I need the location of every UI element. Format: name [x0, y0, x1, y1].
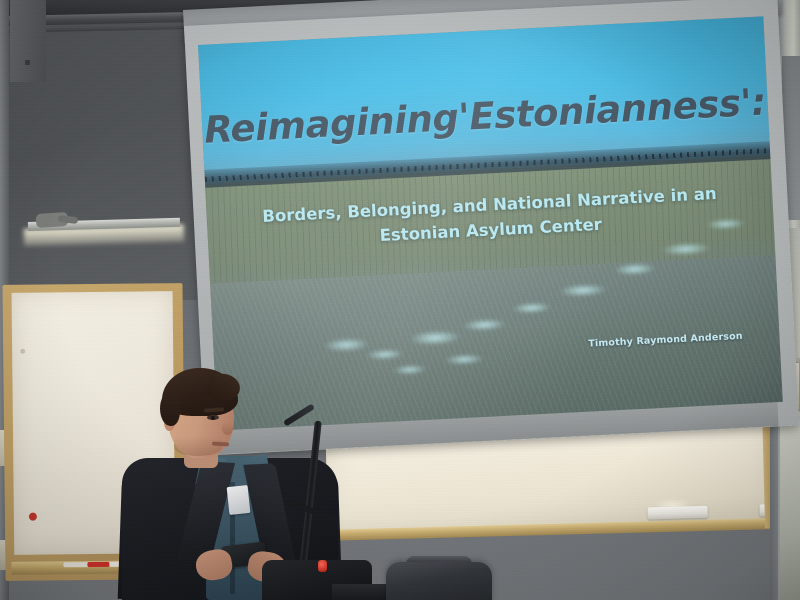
whiteboard-eraser	[648, 506, 708, 520]
right-wall-lower	[780, 412, 800, 600]
office-chair-backrest	[386, 562, 492, 600]
red-indicator-light	[318, 560, 327, 572]
marker-red	[87, 562, 109, 567]
whiteboard-smudge	[20, 349, 25, 354]
ceiling-box-indicator	[25, 60, 30, 65]
name-badge	[227, 485, 251, 515]
presenter-hair-side	[160, 392, 180, 426]
ceiling-mounted-box	[10, 0, 46, 82]
whiteboard-magnet	[29, 513, 37, 521]
projection-sheen	[198, 16, 783, 430]
presenter-nose	[222, 422, 233, 435]
desk-edge	[332, 584, 392, 600]
projected-slide: Reimagining'Estonianness': Borders, Belo…	[198, 16, 783, 430]
presentation-photo-scene: Reimagining'Estonianness': Borders, Belo…	[0, 0, 800, 600]
shirt-button	[231, 538, 235, 542]
jaw-shading	[174, 436, 222, 456]
marker-white	[63, 562, 89, 567]
presenter-pupil	[211, 416, 215, 420]
presenter-mouth	[212, 442, 229, 447]
